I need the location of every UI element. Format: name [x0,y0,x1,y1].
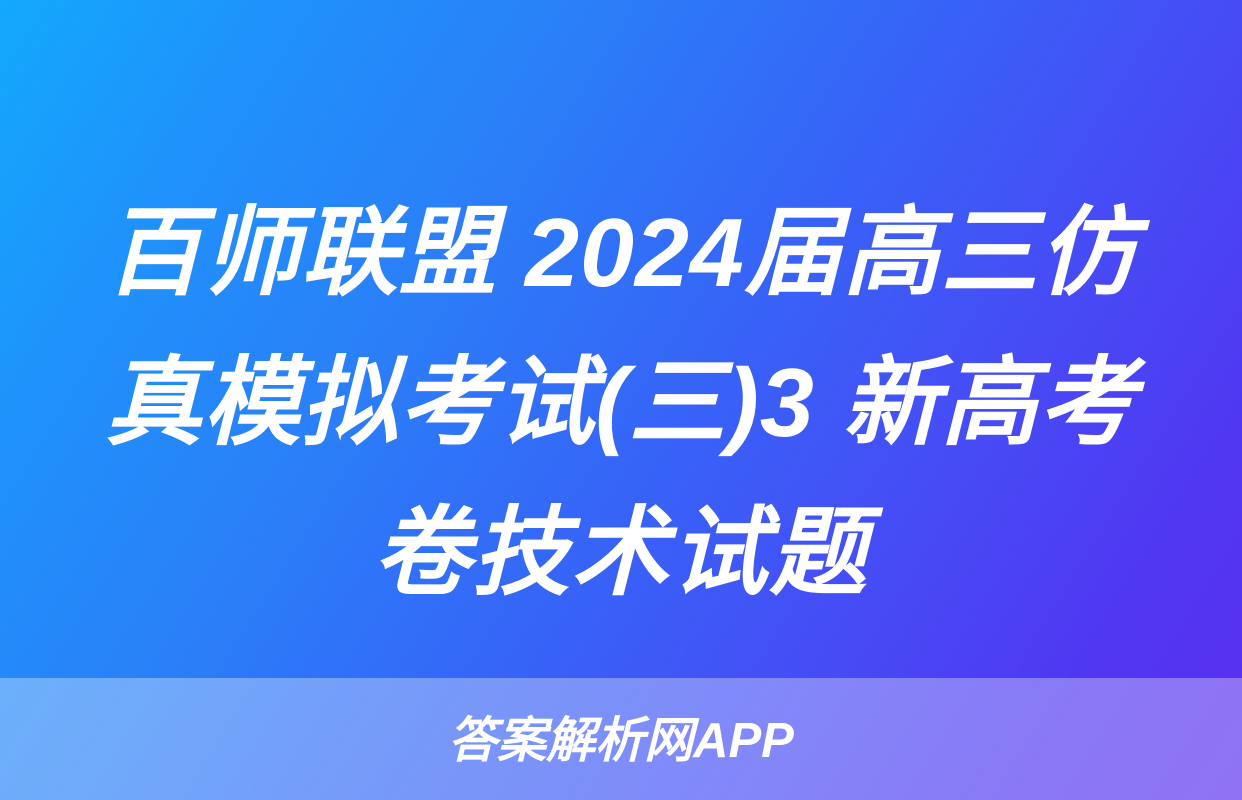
page-title: 百师联盟 2024届高三仿 真模拟考试(三)3 新高考 卷技术试题 [0,178,1242,628]
title-line-1: 百师联盟 2024届高三仿 [78,178,1164,328]
title-line-3: 卷技术试题 [78,478,1164,628]
footer-band: 答案解析网APP [0,678,1242,800]
title-card: 百师联盟 2024届高三仿 真模拟考试(三)3 新高考 卷技术试题 答案解析网A… [0,0,1242,800]
watermark-text: 答案解析网APP [448,717,794,766]
title-line-2: 真模拟考试(三)3 新高考 [78,328,1164,478]
